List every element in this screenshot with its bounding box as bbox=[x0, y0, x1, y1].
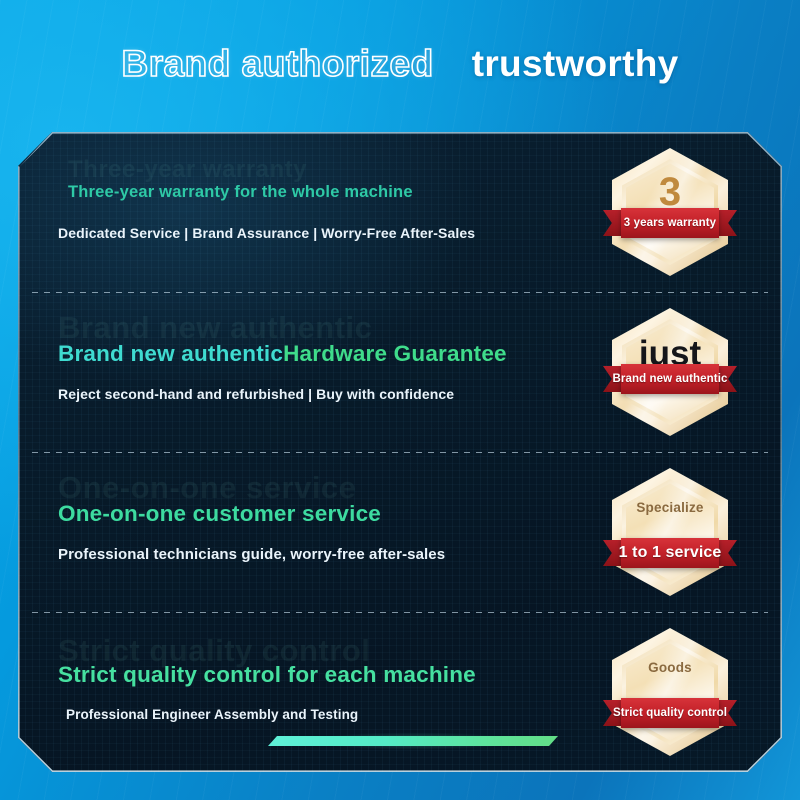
feature-heading-part2: Hardware Guarantee bbox=[283, 341, 507, 366]
feature-row-text: Strict quality control Strict quality co… bbox=[58, 661, 604, 724]
page-title-outlined: Brand authorized bbox=[121, 43, 433, 85]
feature-subtext: Reject second-hand and refurbished | Buy… bbox=[58, 385, 592, 403]
feature-row: Three-year warranty Three-year warranty … bbox=[18, 132, 782, 292]
feature-row-text: Three-year warranty Three-year warranty … bbox=[58, 182, 604, 243]
feature-row: One-on-one service One-on-one customer s… bbox=[18, 452, 782, 612]
feature-subtext: Professional Engineer Assembly and Testi… bbox=[58, 706, 592, 724]
feature-heading: Brand new authenticHardware Guarantee bbox=[58, 340, 592, 368]
feature-badge: just Brand new authentic bbox=[604, 306, 736, 438]
feature-heading: Three-year warranty for the whole machin… bbox=[58, 182, 592, 203]
feature-rows: Three-year warranty Three-year warranty … bbox=[18, 132, 782, 772]
feature-row: Brand new authentic Brand new authenticH… bbox=[18, 292, 782, 452]
feature-badge: Goods Strict quality control bbox=[604, 626, 736, 758]
feature-subtext: Professional technicians guide, worry-fr… bbox=[58, 545, 592, 565]
features-panel: Three-year warranty Three-year warranty … bbox=[18, 132, 782, 772]
accent-bar bbox=[268, 736, 558, 746]
page-header: Brand authorized trustworthy bbox=[0, 0, 800, 128]
feature-heading: Strict quality control for each machine bbox=[58, 661, 592, 689]
page-title-solid: trustworthy bbox=[472, 43, 679, 85]
feature-heading-part1: Brand new authentic bbox=[58, 341, 283, 366]
feature-row: Strict quality control Strict quality co… bbox=[18, 612, 782, 772]
feature-badge: Specialize 1 to 1 service bbox=[604, 466, 736, 598]
feature-subtext: Dedicated Service | Brand Assurance | Wo… bbox=[58, 224, 592, 242]
feature-heading: One-on-one customer service bbox=[58, 500, 592, 528]
feature-row-text: Brand new authentic Brand new authenticH… bbox=[58, 340, 604, 403]
feature-row-text: One-on-one service One-on-one customer s… bbox=[58, 500, 604, 565]
feature-badge: 3 3 years warranty bbox=[604, 146, 736, 278]
watermark-text: Three-year warranty bbox=[68, 156, 307, 184]
